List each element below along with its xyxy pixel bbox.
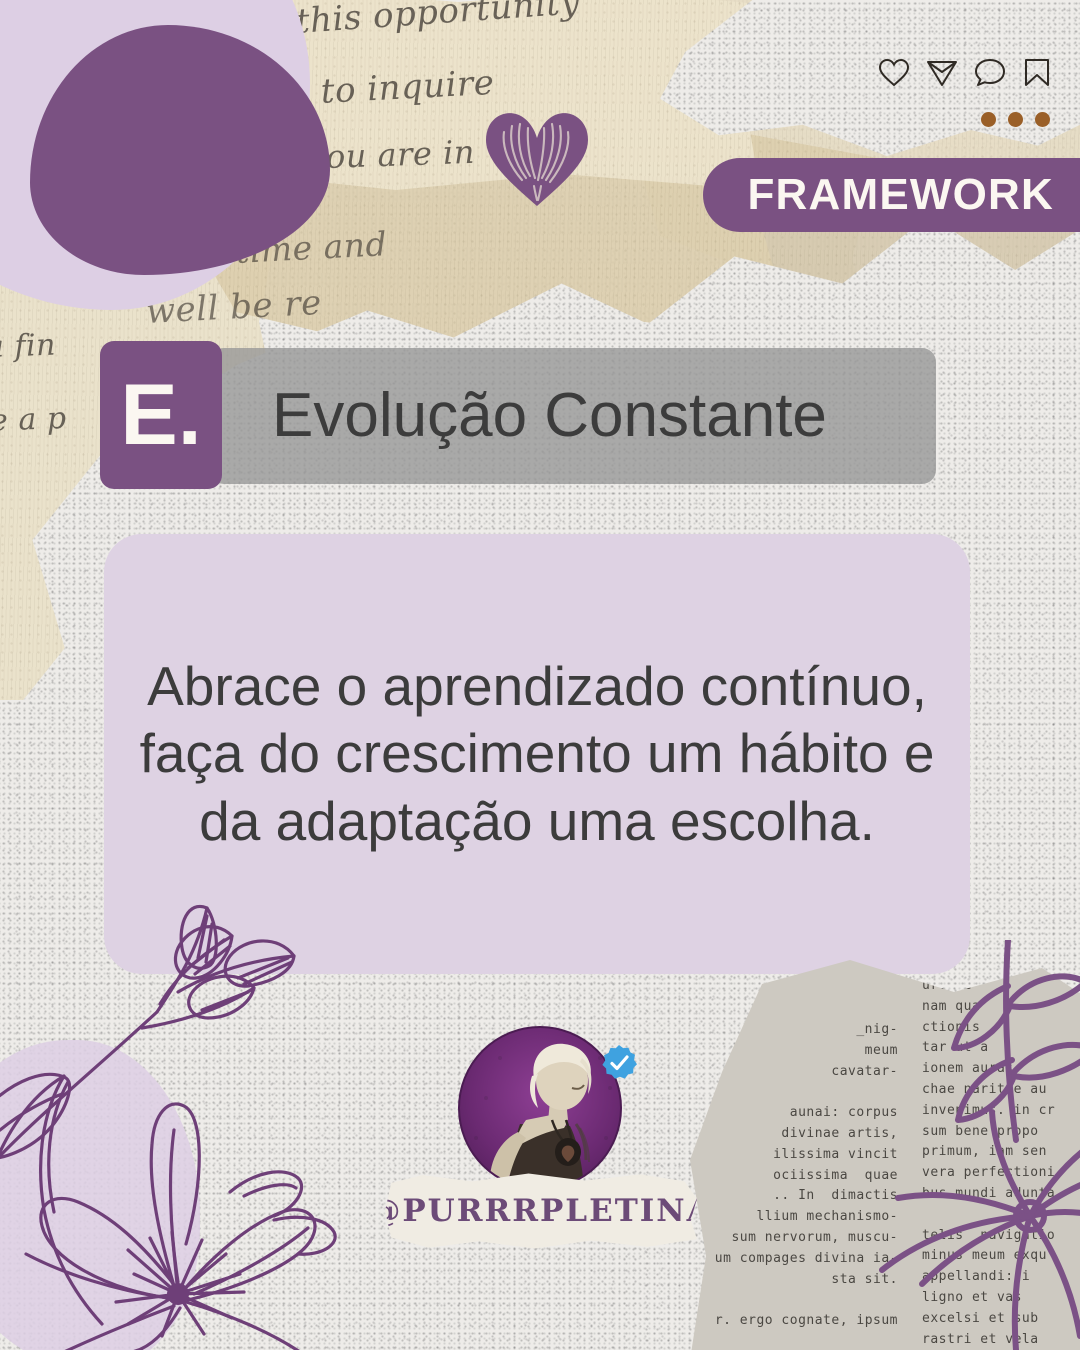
- page-title: Evolução Constante: [272, 385, 827, 447]
- flower-line-art-icon: [858, 940, 1080, 1350]
- handwriting-line: a fin: [0, 328, 57, 365]
- letter-badge: E.: [100, 341, 222, 489]
- paper-plane-icon[interactable]: [926, 58, 958, 88]
- avatar-image: [458, 1026, 622, 1190]
- body-text: Abrace o aprendizado contínuo, faça do c…: [138, 653, 936, 856]
- dot: [1035, 112, 1050, 127]
- handwriting-line: le a p: [0, 401, 67, 439]
- three-dots-icon[interactable]: [981, 112, 1050, 127]
- handwriting-line: this opportunity: [295, 0, 582, 42]
- hand-drawn-heart-icon: [482, 106, 592, 210]
- title-row: E. Evolução Constante: [100, 341, 936, 489]
- dot: [981, 112, 996, 127]
- handle-label: @PURRRPLETINA: [369, 1193, 712, 1229]
- lily-line-art-icon: [0, 862, 382, 1350]
- dot: [1008, 112, 1023, 127]
- handwriting-line: ou are in: [325, 133, 475, 176]
- bookmark-icon[interactable]: [1022, 58, 1052, 88]
- framework-badge-label: FRAMEWORK: [747, 173, 1054, 217]
- verified-check-icon: [600, 1044, 638, 1082]
- handle-strip[interactable]: @PURRRPLETINA: [385, 1172, 697, 1250]
- comment-bubble-icon[interactable]: [974, 58, 1006, 88]
- instagram-action-icons: [878, 58, 1052, 88]
- title-plate: Evolução Constante: [210, 348, 936, 484]
- instagram-post-canvas: uly a as a i coop here to a fin le a p t…: [0, 0, 1080, 1350]
- framework-badge: FRAMEWORK: [703, 158, 1080, 232]
- heart-icon[interactable]: [878, 58, 910, 88]
- avatar[interactable]: [458, 1026, 622, 1190]
